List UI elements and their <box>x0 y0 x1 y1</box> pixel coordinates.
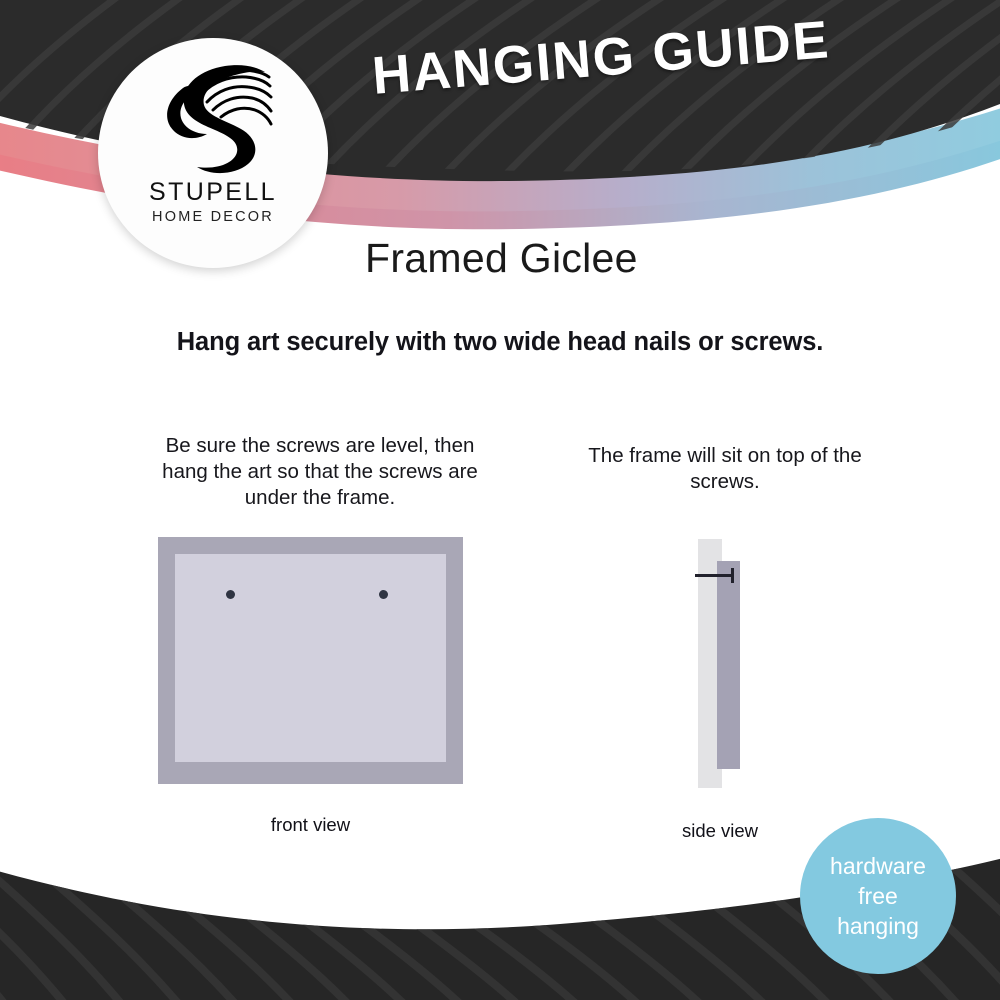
stupell-logo-badge: STUPELL HOME DECOR <box>98 38 328 268</box>
logo-subtitle: HOME DECOR <box>152 210 274 225</box>
front-view-mat <box>175 554 446 762</box>
side-view-screw-head-icon <box>731 568 734 583</box>
instruction-front-view: Be sure the screws are level, then hang … <box>160 433 480 511</box>
instruction-side-view: The frame will sit on top of the screws. <box>580 443 870 495</box>
hardware-free-hanging-badge: hardware free hanging <box>800 818 956 974</box>
screw-dot-left-icon <box>226 590 235 599</box>
side-view-screw-shaft-icon <box>695 574 733 577</box>
stupell-swoosh-icon <box>153 60 273 178</box>
front-view-frame-diagram <box>158 537 463 784</box>
lead-instruction: Hang art securely with two wide head nai… <box>0 328 1000 357</box>
screw-dot-right-icon <box>379 590 388 599</box>
badge-line-3: hanging <box>837 911 919 941</box>
logo-name: STUPELL <box>149 180 277 205</box>
side-view-frame <box>717 561 740 769</box>
badge-line-1: hardware <box>830 851 926 881</box>
hanging-guide-page: HANGING GUIDE STUPELL HOME DECOR Framed … <box>0 0 1000 1000</box>
product-title: Framed Giclee <box>365 235 638 282</box>
badge-line-2: free <box>858 881 898 911</box>
